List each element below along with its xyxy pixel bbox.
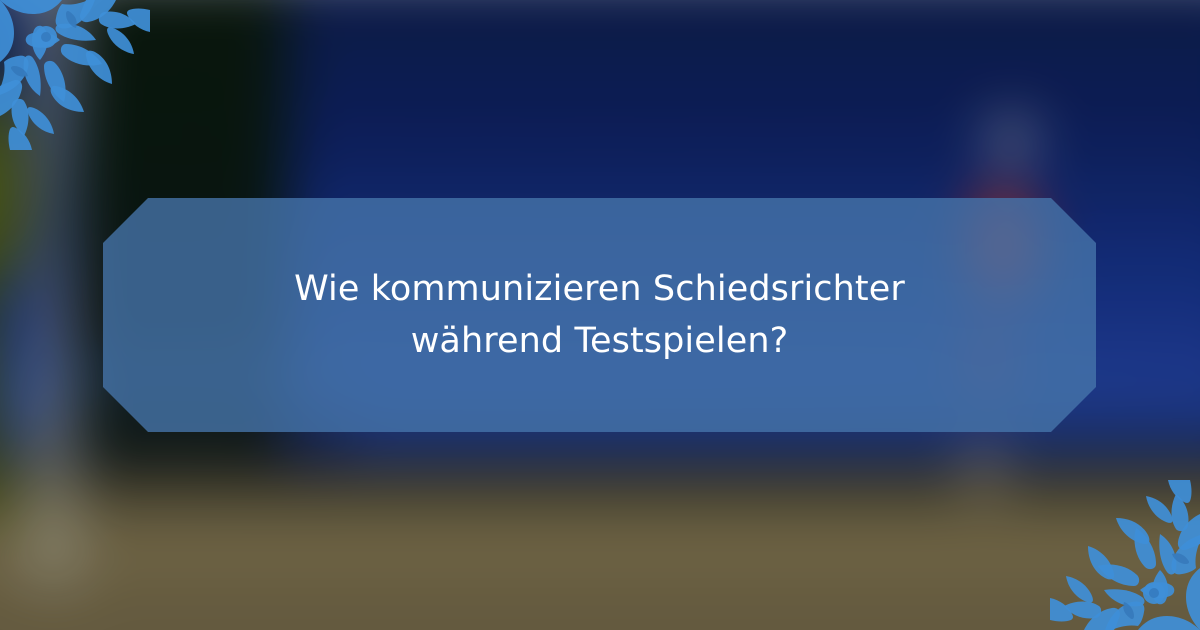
quote-text: Wie kommunizieren Schiedsrichter während… — [220, 263, 980, 368]
quote-card: Wie kommunizieren Schiedsrichter während… — [103, 198, 1096, 432]
quote-card-canvas: Wie kommunizieren Schiedsrichter während… — [0, 0, 1200, 630]
